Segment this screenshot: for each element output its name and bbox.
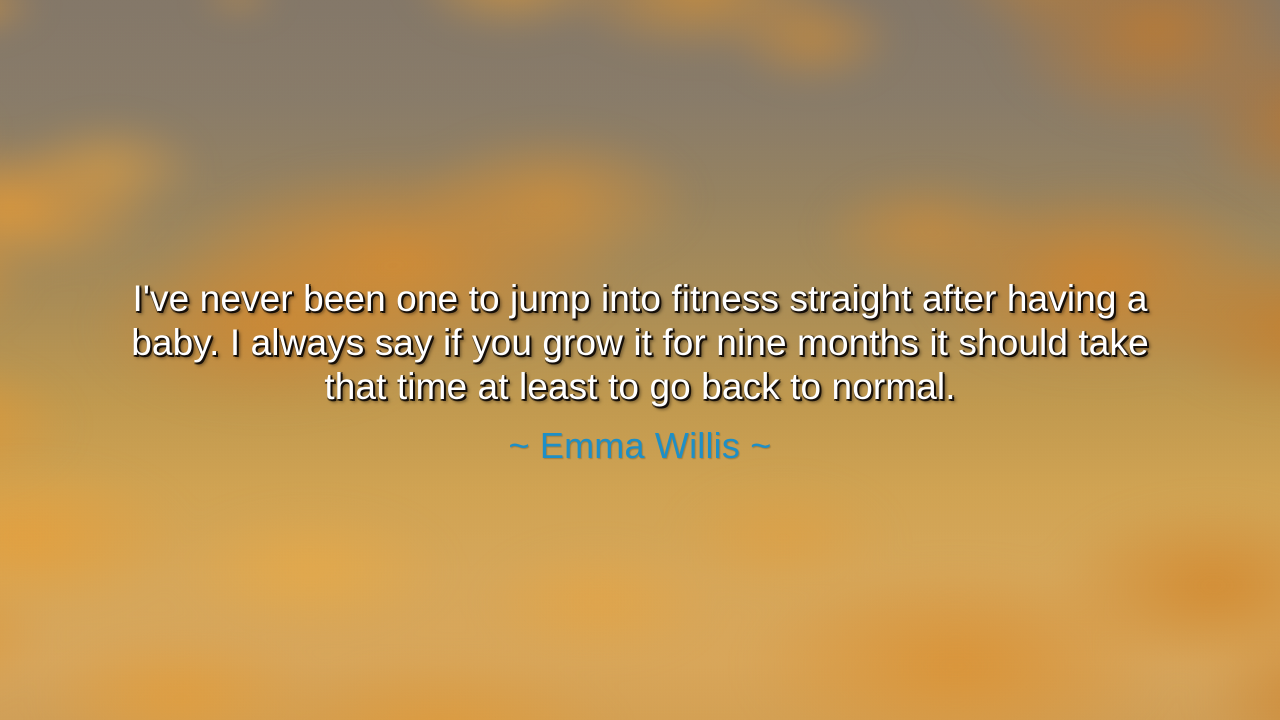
quote-image: I've never been one to jump into fitness… [0,0,1280,720]
quote-text: I've never been one to jump into fitness… [95,277,1185,409]
quote-text-block: I've never been one to jump into fitness… [0,277,1280,467]
quote-author: ~ Emma Willis ~ [508,425,771,467]
